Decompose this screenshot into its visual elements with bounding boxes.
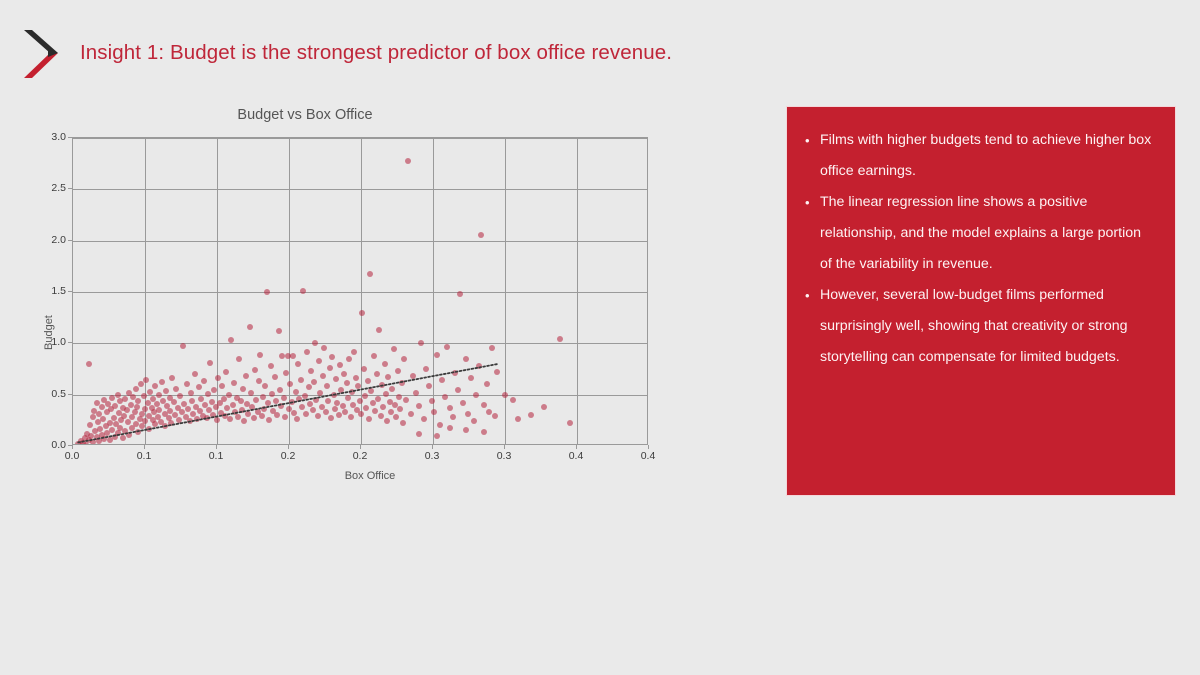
x-tick-label: 0.4 bbox=[628, 450, 668, 462]
insight-bullet: •Films with higher budgets tend to achie… bbox=[803, 125, 1153, 187]
x-tick-label: 0.2 bbox=[340, 450, 380, 462]
insight-bullet: •However, several low-budget films perfo… bbox=[803, 280, 1153, 373]
x-tick-label: 0.1 bbox=[124, 450, 164, 462]
insight-bullet-list: •Films with higher budgets tend to achie… bbox=[803, 125, 1153, 373]
insight-bullet: •The linear regression line shows a posi… bbox=[803, 187, 1153, 280]
x-tickmark bbox=[144, 445, 145, 449]
x-tickmark bbox=[72, 445, 73, 449]
x-tickmark bbox=[288, 445, 289, 449]
regression-trendline bbox=[73, 138, 648, 445]
x-tick-label: 0.3 bbox=[484, 450, 524, 462]
y-tick-label: 2.5 bbox=[22, 182, 66, 194]
plot-area bbox=[72, 137, 648, 445]
x-tickmark bbox=[216, 445, 217, 449]
x-tick-label: 0.3 bbox=[412, 450, 452, 462]
x-tick-label: 0.1 bbox=[196, 450, 236, 462]
bullet-glyph-icon: • bbox=[805, 125, 810, 156]
chart-title: Budget vs Box Office bbox=[0, 107, 635, 123]
y-tick-label: 1.5 bbox=[22, 285, 66, 297]
insight-bullet-text: However, several low-budget films perfor… bbox=[820, 287, 1128, 365]
insight-bullet-text: Films with higher budgets tend to achiev… bbox=[820, 132, 1151, 179]
insight-bullet-text: The linear regression line shows a posit… bbox=[820, 194, 1141, 272]
chevron-right-icon bbox=[22, 28, 66, 80]
bullet-glyph-icon: • bbox=[805, 280, 810, 311]
bullet-glyph-icon: • bbox=[805, 187, 810, 218]
y-tick-label: 0.5 bbox=[22, 388, 66, 400]
x-tickmark bbox=[360, 445, 361, 449]
x-tick-label: 0.0 bbox=[52, 450, 92, 462]
x-tickmark bbox=[648, 445, 649, 449]
x-tickmark bbox=[504, 445, 505, 449]
y-tick-label: 1.0 bbox=[22, 336, 66, 348]
y-tick-label: 3.0 bbox=[22, 131, 66, 143]
x-tickmark bbox=[432, 445, 433, 449]
chart-figure: Budget vs Box Office Budget Box Office 0… bbox=[20, 100, 680, 500]
x-tickmark bbox=[576, 445, 577, 449]
y-tick-label: 2.0 bbox=[22, 234, 66, 246]
x-tick-label: 0.4 bbox=[556, 450, 596, 462]
x-axis-label: Box Office bbox=[72, 470, 668, 482]
x-tick-label: 0.2 bbox=[268, 450, 308, 462]
insight-panel: •Films with higher budgets tend to achie… bbox=[787, 107, 1175, 495]
page-title: Insight 1: Budget is the strongest predi… bbox=[80, 41, 672, 65]
slide-header: Insight 1: Budget is the strongest predi… bbox=[0, 0, 1200, 96]
